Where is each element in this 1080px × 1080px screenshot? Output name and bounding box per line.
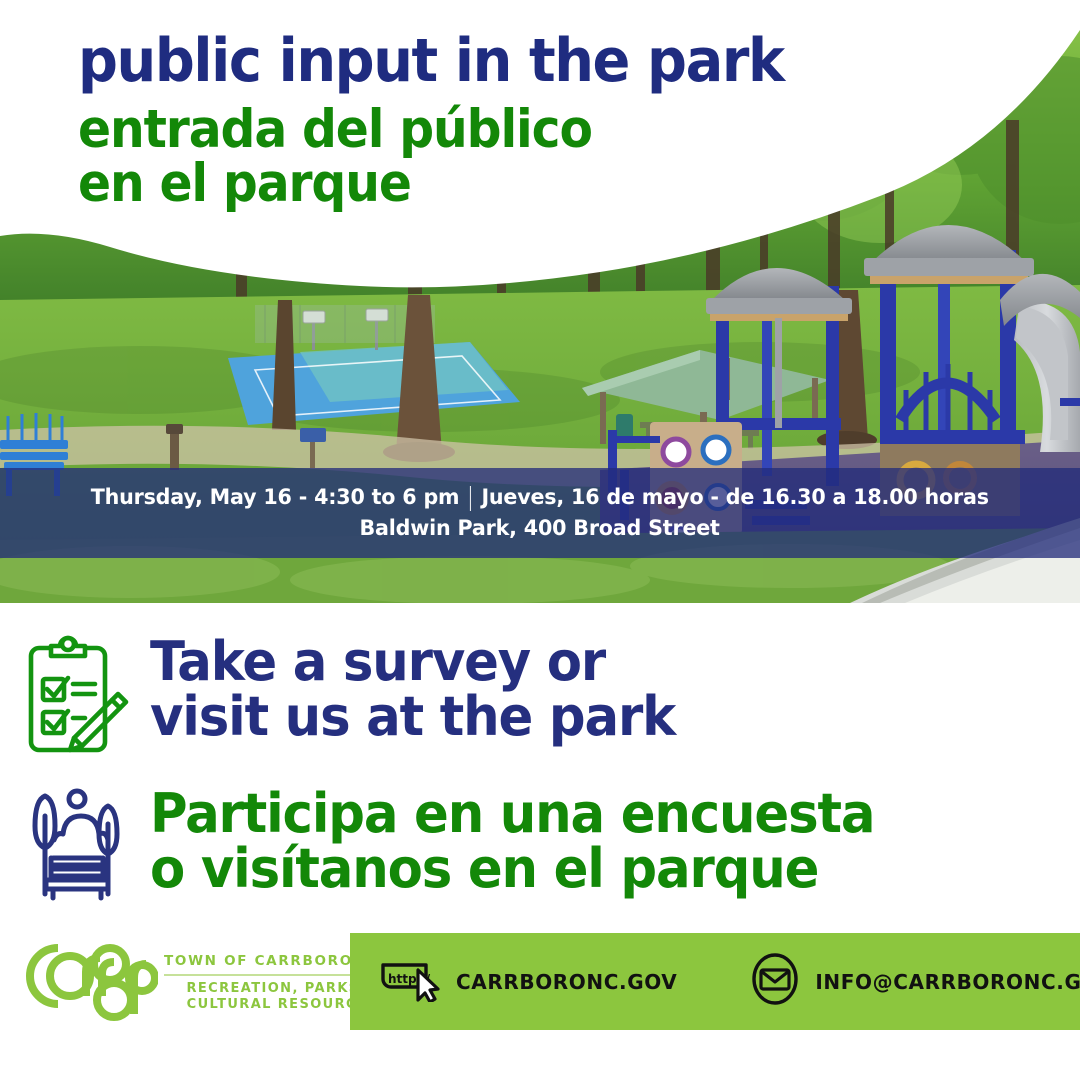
page-title-english: public input in the park — [78, 32, 896, 91]
cta-spanish-line2: o visítanos en el parque — [150, 841, 874, 896]
cta-english-line1: Take a survey or — [150, 634, 675, 689]
poster-footer: TOWN OF CARRBORO • NC RECREATION, PARKS … — [0, 933, 1080, 1038]
cta-spanish-line1: Participa en una encuesta — [150, 786, 874, 841]
envelope-icon-svg — [751, 953, 799, 1005]
carrboro-logo-block: TOWN OF CARRBORO • NC RECREATION, PARKS … — [10, 935, 350, 1030]
cta-spanish-text: Participa en una encuesta o visítanos en… — [150, 782, 874, 896]
url-bar-cursor-icon-svg: http:// — [378, 956, 440, 1002]
poster-canvas: public input in the park entrada del púb… — [0, 0, 1080, 1080]
event-date-spanish: Jueves, 16 de mayo - de 16.30 a 18.00 ho… — [482, 485, 989, 510]
event-details-band: Thursday, May 16 - 4:30 to 6 pm Jueves, … — [0, 468, 1080, 558]
cta-spanish: Participa en una encuesta o visítanos en… — [0, 782, 1080, 904]
event-date-row: Thursday, May 16 - 4:30 to 6 pm Jueves, … — [91, 485, 989, 510]
clipboard-survey-icon — [0, 628, 150, 757]
event-location: Baldwin Park, 400 Broad Street — [360, 516, 720, 541]
event-date-english: Thursday, May 16 - 4:30 to 6 pm — [91, 485, 460, 510]
clipboard-survey-icon-svg — [19, 632, 131, 757]
email-contact[interactable]: INFO@CARRBORONC.GOV — [751, 953, 1080, 1010]
cta-english: Take a survey or visit us at the park — [0, 628, 1080, 757]
url-bar-cursor-icon: http:// — [378, 956, 440, 1007]
date-separator — [470, 486, 471, 511]
page-title-spanish: entrada del público en el parque — [78, 103, 888, 211]
website-label: CARRBORONC.GOV — [456, 970, 677, 994]
carrboro-logo-svg — [10, 934, 158, 1026]
park-bench-icon — [0, 782, 150, 904]
carrboro-logo — [10, 934, 158, 1031]
page-title-spanish-line1: entrada del público — [78, 103, 888, 157]
poster-headings: public input in the park entrada del púb… — [78, 32, 958, 211]
page-title-spanish-line2: en el parque — [78, 157, 888, 211]
website-contact[interactable]: http:// CARRBORONC.GOV — [378, 956, 677, 1007]
contact-bar: http:// CARRBORONC.GOV INFO@CARRBORONC.G… — [350, 933, 1080, 1030]
park-bench-icon-svg — [15, 786, 135, 904]
envelope-icon — [751, 953, 799, 1010]
cta-english-text: Take a survey or visit us at the park — [150, 628, 675, 744]
email-label: INFO@CARRBORONC.GOV — [815, 970, 1080, 994]
cta-english-line2: visit us at the park — [150, 689, 675, 744]
